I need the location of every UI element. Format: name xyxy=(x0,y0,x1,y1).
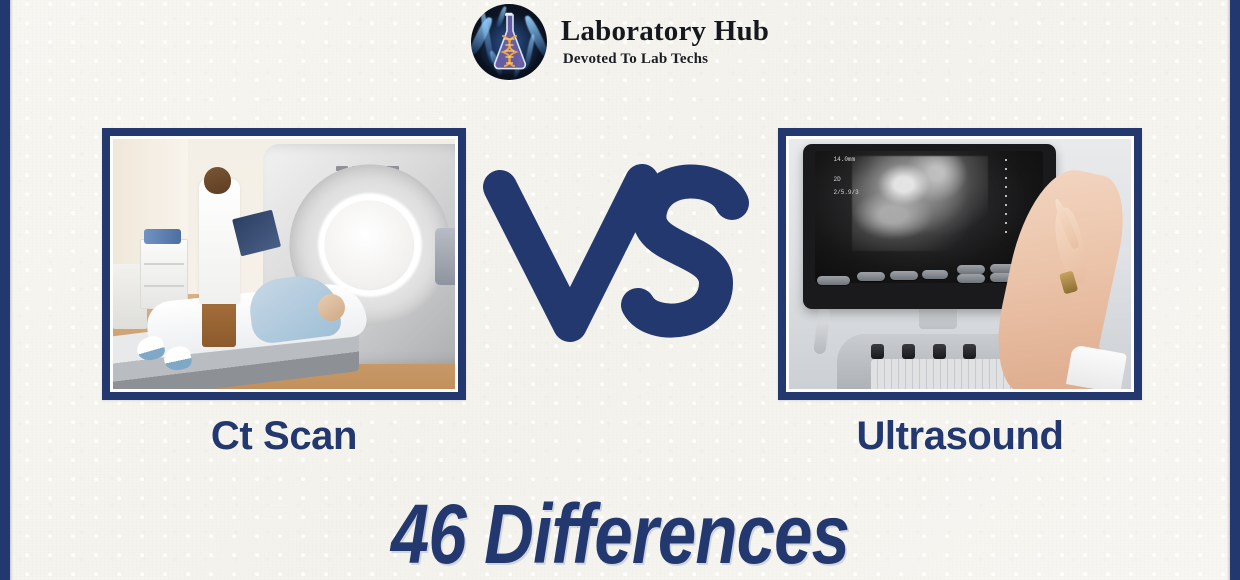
right-image-frame: 14.0mm 2D 2/5.9/3 xyxy=(778,128,1142,400)
ultrasound-machine-photo: 14.0mm 2D 2/5.9/3 xyxy=(789,139,1131,389)
brand-title: Laboratory Hub xyxy=(561,16,769,46)
right-edge-shadow xyxy=(1227,0,1230,580)
left-edge-stripe xyxy=(0,0,10,580)
screen-readout-mode: 2D xyxy=(834,176,841,184)
brand-text-block: Laboratory Hub Devoted To Lab Techs xyxy=(561,16,769,67)
right-edge-stripe xyxy=(1230,0,1240,580)
ct-technician xyxy=(199,179,240,304)
screen-depth-ruler xyxy=(1005,159,1007,241)
screen-readout-depth: 14.0mm xyxy=(834,156,856,164)
left-image-inner-border xyxy=(110,136,458,392)
left-caption: Ct Scan xyxy=(102,414,466,458)
vs-lettering-icon xyxy=(470,155,770,365)
headline-differences: 46 Differences xyxy=(112,486,1129,580)
right-caption: Ultrasound xyxy=(778,414,1142,458)
flask-icon xyxy=(487,12,531,72)
flask-dna-lightning-icon xyxy=(471,4,547,80)
brand-header: Laboratory Hub Devoted To Lab Techs xyxy=(0,4,1240,80)
screen-readout-gain: 2/5.9/3 xyxy=(834,189,859,197)
left-image-frame xyxy=(102,128,466,400)
ultrasound-scan-image xyxy=(852,156,989,251)
vs-badge xyxy=(466,150,774,370)
left-edge-shadow xyxy=(10,0,13,580)
right-image-inner-border: 14.0mm 2D 2/5.9/3 xyxy=(786,136,1134,392)
ct-scanner-photo xyxy=(113,139,455,389)
poster-canvas: Laboratory Hub Devoted To Lab Techs xyxy=(0,0,1240,580)
brand-tagline: Devoted To Lab Techs xyxy=(561,51,708,68)
